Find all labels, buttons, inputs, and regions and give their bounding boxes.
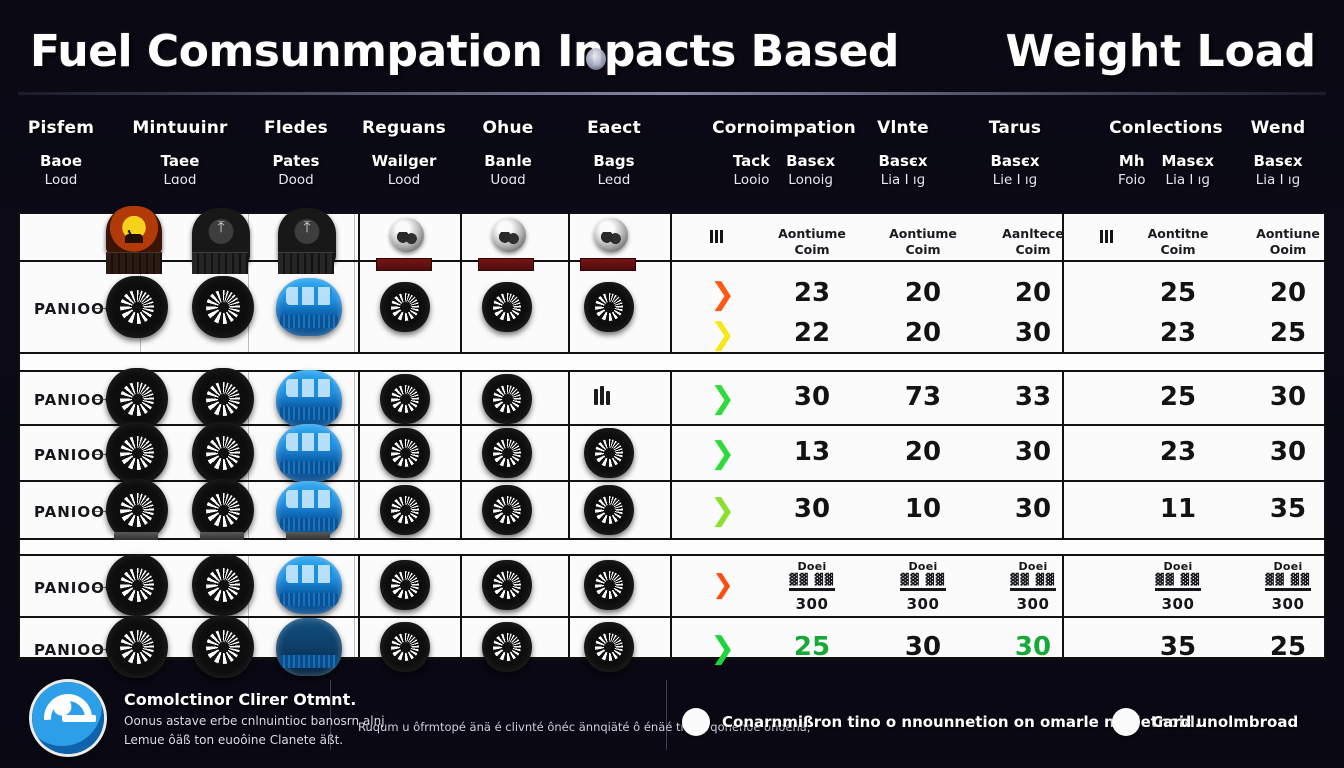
footer-divider-2 bbox=[666, 680, 667, 750]
cell-fraction: Doei ▓▓ ▓▓ 300 bbox=[1265, 560, 1311, 613]
fraction-top: Doei bbox=[900, 560, 946, 573]
cell-value: 30 bbox=[1015, 494, 1051, 524]
cell-value: 35 bbox=[1160, 632, 1196, 662]
table-row[interactable]: PANIOOOO ❯ ❯ 23 20 20 25 20 22 20 30 23 … bbox=[20, 262, 1324, 354]
subheader-metric-0: Aontiume Coim bbox=[778, 226, 846, 257]
fraction-bottom: 300 bbox=[789, 595, 835, 613]
tire-icon bbox=[380, 374, 430, 424]
header-col-10-sub1: Basєx bbox=[1218, 152, 1338, 170]
header-col-9-sub2b: Lia I ıɡ bbox=[1162, 172, 1215, 188]
cell-value: 30 bbox=[1015, 632, 1051, 662]
header-col-9-sub1b: Masєx bbox=[1162, 152, 1215, 170]
trend-arrow-up: ❯ bbox=[710, 384, 735, 414]
blue-module-icon bbox=[276, 424, 342, 482]
trend-arrow-up: ❯ bbox=[710, 439, 735, 469]
tire-icon bbox=[106, 422, 168, 484]
tire-icon bbox=[192, 554, 254, 616]
title-divider bbox=[18, 92, 1326, 95]
tire-icon bbox=[106, 368, 168, 430]
fraction-bottom: 300 bbox=[1265, 595, 1311, 613]
footer: Comolctinor Clirer Otmnt. Oonus astave e… bbox=[0, 662, 1344, 768]
silver-ball-icon-1 bbox=[390, 218, 424, 252]
header-col-1-title: Mintuuinr bbox=[118, 118, 242, 138]
cell-value: 20 bbox=[1270, 278, 1306, 308]
header-col-6-sub1b: Basєx bbox=[786, 152, 835, 170]
header-col-0: Pisfem Baoe Loɑd bbox=[0, 118, 122, 188]
header-col-1-sub1: Taee bbox=[118, 152, 242, 170]
header-col-1-sub2: Lɑod bbox=[118, 172, 242, 188]
fraction-bottom: 300 bbox=[1010, 595, 1056, 613]
cell-value: 10 bbox=[905, 494, 941, 524]
cell-value: 25 bbox=[1270, 318, 1306, 348]
footer-brand-sub-line1: Oonus astave erbe cnlnuintioc banosrn al… bbox=[124, 712, 385, 731]
cell-value: 25 bbox=[1160, 278, 1196, 308]
header-col-8-sub1: Basєx bbox=[950, 152, 1080, 170]
cell-value: 20 bbox=[905, 437, 941, 467]
ticks-icon-2 bbox=[1100, 230, 1113, 243]
header-col-7-sub1: Basєx bbox=[838, 152, 968, 170]
header-col-2-sub2: Dood bbox=[234, 172, 358, 188]
header-col-6-sub1: Tack bbox=[733, 152, 770, 170]
blue-module-icon bbox=[276, 278, 342, 336]
fraction-mid: ▓▓ ▓▓ bbox=[1265, 573, 1311, 586]
cell-value: 30 bbox=[1270, 382, 1306, 412]
header-col-0-sub2: Loɑd bbox=[0, 172, 122, 188]
table-row[interactable]: PANIOOOO ❯ 30 10 30 11 35 bbox=[20, 482, 1324, 540]
legend-dot-icon bbox=[682, 708, 710, 736]
trend-arrow-up: ❯ bbox=[710, 320, 735, 350]
silver-ball-icon-3 bbox=[594, 218, 628, 252]
blue-module-icon bbox=[276, 481, 342, 539]
header-col-7: Vlnte Basєx Lia I ıɡ bbox=[838, 118, 968, 188]
cell-value: 33 bbox=[1015, 382, 1051, 412]
tire-icon bbox=[380, 282, 430, 332]
cell-value: 23 bbox=[794, 278, 830, 308]
trend-arrow-up: ❯ bbox=[710, 280, 735, 310]
cell-fraction: Doei ▓▓ ▓▓ 300 bbox=[900, 560, 946, 613]
tire-icon bbox=[482, 560, 532, 610]
footer-brand-sub-line2: Lemue ôäß ton euoôine Clanete äßt. bbox=[124, 731, 385, 750]
header-col-10-title: Wend bbox=[1218, 118, 1338, 138]
tire-icon bbox=[106, 554, 168, 616]
header-col-10: Wend Basєx Lia I ıɡ bbox=[1218, 118, 1338, 188]
fraction-top: Doei bbox=[1010, 560, 1056, 573]
cell-value: 73 bbox=[905, 382, 941, 412]
tire-icon bbox=[482, 282, 532, 332]
tire-icon bbox=[192, 276, 254, 338]
page-title-right: Weight Load bbox=[1005, 26, 1316, 77]
header-col-2-title: Fledes bbox=[234, 118, 358, 138]
header-col-2: Fledes Pates Dood bbox=[234, 118, 358, 188]
cell-value: 30 bbox=[905, 632, 941, 662]
header-col-9-sub1: Mh bbox=[1118, 152, 1146, 170]
page-title: Fuel Comsunmpation Inpacts Based bbox=[30, 26, 899, 77]
header-col-0-title: Pisfem bbox=[0, 118, 122, 138]
fraction-mid: ▓▓ ▓▓ bbox=[789, 573, 835, 586]
header-col-1: Mintuuinr Taee Lɑod bbox=[118, 118, 242, 188]
header-col-8: Tarus Basєx Lie I ıɡ bbox=[950, 118, 1080, 188]
header-col-10-sub2: Lia I ıɡ bbox=[1218, 172, 1338, 188]
trend-arrow-up: ❯ bbox=[710, 496, 735, 526]
footer-brand-title: Comolctinor Clirer Otmnt. bbox=[124, 690, 356, 709]
cell-value: 23 bbox=[1160, 437, 1196, 467]
cell-value: 11 bbox=[1160, 494, 1196, 524]
blue-module-icon bbox=[276, 370, 342, 428]
tire-icon bbox=[584, 282, 634, 332]
legend-item-2[interactable]: Card unolmbroad bbox=[1112, 708, 1298, 736]
brand-logo-icon bbox=[32, 682, 104, 754]
cell-value: 30 bbox=[794, 382, 830, 412]
footer-brand-sub: Oonus astave erbe cnlnuintioc banosrn al… bbox=[124, 712, 385, 749]
data-table: Aontiume Coim Aontiume Coim Aanltece Coi… bbox=[18, 212, 1326, 660]
header-col-6-sub2: Looio bbox=[733, 172, 770, 188]
title-decoration-blob bbox=[586, 48, 606, 70]
header-col-0-sub1: Baoe bbox=[0, 152, 122, 170]
silver-ball-icon-2 bbox=[492, 218, 526, 252]
header-col-8-sub2: Lie I ıɡ bbox=[950, 172, 1080, 188]
mini-bars-icon bbox=[594, 386, 610, 405]
cell-value: 30 bbox=[794, 494, 830, 524]
footer-divider-1 bbox=[330, 680, 331, 750]
tire-icon bbox=[380, 485, 430, 535]
tire-icon bbox=[584, 560, 634, 610]
header-col-5-sub1: Bags bbox=[552, 152, 676, 170]
subheader-metric-4: Aontiune Ooim bbox=[1256, 226, 1320, 257]
tire-icon bbox=[106, 276, 168, 338]
header-col-5-title: Eaect bbox=[552, 118, 676, 138]
tire-icon bbox=[584, 428, 634, 478]
tire-icon bbox=[482, 485, 532, 535]
title-bar: Fuel Comsunmpation Inpacts Based Weight … bbox=[0, 0, 1344, 94]
cell-value: 25 bbox=[794, 632, 830, 662]
table-row[interactable]: PANIOOOO ❯ 13 20 30 23 30 bbox=[20, 426, 1324, 482]
gauge-icon bbox=[106, 206, 162, 254]
header-col-8-title: Tarus bbox=[950, 118, 1080, 138]
fraction-top: Doei bbox=[1265, 560, 1311, 573]
header-col-9-sub2: Foio bbox=[1118, 172, 1146, 188]
cell-value: 20 bbox=[905, 278, 941, 308]
ticks-icon bbox=[710, 230, 723, 243]
cell-value: 20 bbox=[1015, 278, 1051, 308]
header-col-6-sub2b: Lonoiɡ bbox=[786, 172, 835, 188]
tire-icon bbox=[482, 374, 532, 424]
header-col-7-title: Vlnte bbox=[838, 118, 968, 138]
cell-value: 23 bbox=[1160, 318, 1196, 348]
cell-value: 35 bbox=[1270, 494, 1306, 524]
cell-value: 20 bbox=[905, 318, 941, 348]
cell-value: 30 bbox=[1015, 437, 1051, 467]
cell-value: 22 bbox=[794, 318, 830, 348]
subheader-metric-1: Aontiume Coim bbox=[889, 226, 957, 257]
fraction-bottom: 300 bbox=[900, 595, 946, 613]
fraction-top: Doei bbox=[789, 560, 835, 573]
header-col-2-sub1: Pates bbox=[234, 152, 358, 170]
tire-icon bbox=[482, 428, 532, 478]
cell-value: 30 bbox=[1015, 318, 1051, 348]
legend-dot-icon bbox=[1112, 708, 1140, 736]
fraction-mid: ▓▓ ▓▓ bbox=[1155, 573, 1201, 586]
header-col-5-sub2: Leɑd bbox=[552, 172, 676, 188]
tire-icon bbox=[380, 560, 430, 610]
trend-arrow-up: ❯ bbox=[712, 572, 734, 598]
tire-icon bbox=[192, 422, 254, 484]
legend-label: Card unolmbroad bbox=[1152, 713, 1298, 731]
trend-arrow-up: ❯ bbox=[710, 634, 735, 664]
cell-value: 13 bbox=[794, 437, 830, 467]
cell-value: 25 bbox=[1270, 632, 1306, 662]
tire-icon bbox=[584, 485, 634, 535]
fraction-top: Doei bbox=[1155, 560, 1201, 573]
tire-icon bbox=[380, 428, 430, 478]
blue-module-icon bbox=[276, 556, 342, 614]
subheader-metric-2: Aanltece Coim bbox=[1002, 226, 1064, 257]
table-row[interactable]: PANIOOOO ❯ Doei ▓▓ ▓▓ 300 Doei ▓▓ ▓▓ 30 bbox=[20, 556, 1324, 618]
subheader-metric-3: Aontitne Coim bbox=[1148, 226, 1209, 257]
fraction-mid: ▓▓ ▓▓ bbox=[1010, 573, 1056, 586]
column-headers: Pisfem Baoe Loɑd Mintuuinr Taee Lɑod Fle… bbox=[0, 100, 1344, 212]
fraction-mid: ▓▓ ▓▓ bbox=[900, 573, 946, 586]
cell-fraction: Doei ▓▓ ▓▓ 300 bbox=[1010, 560, 1056, 613]
cell-value: 30 bbox=[1270, 437, 1306, 467]
header-col-5: Eaect Bags Leɑd bbox=[552, 118, 676, 188]
cell-fraction: Doei ▓▓ ▓▓ 300 bbox=[1155, 560, 1201, 613]
table-row[interactable]: PANIOOOO ❯ 30 73 33 25 30 bbox=[20, 372, 1324, 426]
tire-icon bbox=[192, 368, 254, 430]
fraction-bottom: 300 bbox=[1155, 595, 1201, 613]
header-col-7-sub2: Lia I ıɡ bbox=[838, 172, 968, 188]
cell-fraction: Doei ▓▓ ▓▓ 300 bbox=[789, 560, 835, 613]
cell-value: 25 bbox=[1160, 382, 1196, 412]
infographic-root: Fuel Comsunmpation Inpacts Based Weight … bbox=[0, 0, 1344, 768]
